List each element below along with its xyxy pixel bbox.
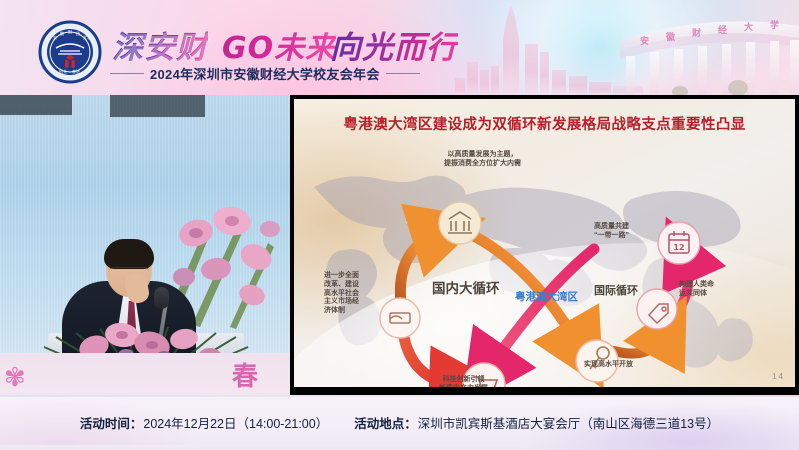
title-part-2: GO未来: [222, 23, 336, 67]
university-logo: 安徽财 经大学 创业奋进: [38, 20, 102, 84]
floor-decor-right: 春: [232, 356, 258, 393]
label-reform-node: 进一步全面 改革、建设 高水平社会 主义市场经 济体制: [324, 272, 359, 316]
svg-text:徽: 徽: [60, 30, 64, 36]
svg-text:学: 学: [770, 19, 779, 31]
label-international-circulation: 国际循环: [594, 285, 638, 299]
backdrop-dark-panel-left: [0, 95, 72, 115]
label-opening-node: 实现高水平开放: [584, 361, 633, 370]
title-part-1: 深安财: [112, 22, 208, 67]
svg-text:安: 安: [53, 34, 57, 40]
speaker-hair: [104, 239, 154, 269]
subtitle-rule-right: [386, 73, 420, 74]
svg-text:安: 安: [640, 35, 649, 47]
event-title: 深安财 GO未来 向光而行: [112, 22, 462, 66]
event-venue-item: 活动地点： 深圳市凯宾斯基酒店大宴会厅（南山区海德三道13号）: [354, 413, 719, 432]
backdrop-dark-panel-right: [110, 95, 205, 117]
microphone: [154, 287, 169, 309]
slide-title: 粤港澳大湾区建设成为双循环新发展格局战略支点重要性凸显: [294, 113, 795, 134]
event-venue-label: 活动地点：: [354, 413, 417, 432]
footer-content: 活动时间： 2024年12月22日（14:00-21:00） 活动地点： 深圳市…: [0, 395, 799, 450]
title-part-3: 向光而行: [330, 22, 458, 67]
presentation-slide: 粤港澳大湾区建设成为双循环新发展格局战略支点重要性凸显: [294, 99, 795, 387]
svg-text:财: 财: [68, 29, 72, 35]
svg-text:12: 12: [673, 243, 684, 252]
label-innovation-node: 科技创新引领 新质生产力发展: [439, 376, 488, 387]
event-venue-value: 深圳市凯宾斯基酒店大宴会厅（南山区海德三道13号）: [418, 413, 719, 432]
presentation-slide-frame: 粤港澳大湾区建设成为双循环新发展格局战略支点重要性凸显: [290, 95, 799, 395]
label-community-node: 构建人类命 运共同体: [679, 281, 714, 299]
stage-body: ✾ 春: [0, 95, 799, 395]
event-subtitle: 2024年深圳市安徽财经大学校友会年会: [150, 64, 380, 83]
subtitle-rule-left: [110, 73, 144, 74]
floor-decor-left: ✾: [4, 362, 26, 393]
svg-text:经: 经: [76, 30, 80, 36]
svg-text:大学: 大学: [83, 34, 91, 40]
svg-text:创业: 创业: [59, 68, 67, 74]
event-info-footer: 活动时间： 2024年12月22日（14:00-21:00） 活动地点： 深圳市…: [0, 395, 799, 450]
label-belt-road-node: 高质量共建 “一带一路”: [594, 223, 629, 241]
dual-circulation-diagram: 12: [294, 139, 795, 387]
svg-text:奋进: 奋进: [72, 68, 80, 74]
svg-text:徽: 徽: [665, 31, 676, 43]
slide-page-number: 14: [772, 372, 785, 381]
event-header-banner: 安 徽 财 经 大 学 安徽财 经大学: [0, 0, 799, 95]
svg-text:财: 财: [691, 27, 701, 39]
event-time-value: 2024年12月22日（14:00-21:00）: [143, 413, 328, 432]
shenzhen-skyline-illustration: [455, 0, 645, 95]
event-subtitle-row: 2024年深圳市安徽财经大学校友会年会: [110, 63, 470, 83]
event-time-item: 活动时间： 2024年12月22日（14:00-21:00）: [80, 413, 328, 432]
campus-colonnade-illustration: 安 徽 财 经 大 学: [620, 4, 799, 95]
speaker-photo-panel: ✾ 春: [0, 95, 290, 395]
conference-livestream-frame: 安 徽 财 经 大 学 安徽财 经大学: [0, 0, 799, 450]
label-greater-bay-area: 粤港澳大湾区: [515, 291, 578, 304]
svg-text:经: 经: [718, 24, 727, 36]
event-time-label: 活动时间：: [80, 413, 143, 432]
svg-text:大: 大: [744, 21, 753, 33]
label-bank-node: 以高质量发展为主题， 提振消费全方位扩大内需: [444, 151, 521, 169]
label-domestic-circulation: 国内大循环: [432, 281, 500, 298]
